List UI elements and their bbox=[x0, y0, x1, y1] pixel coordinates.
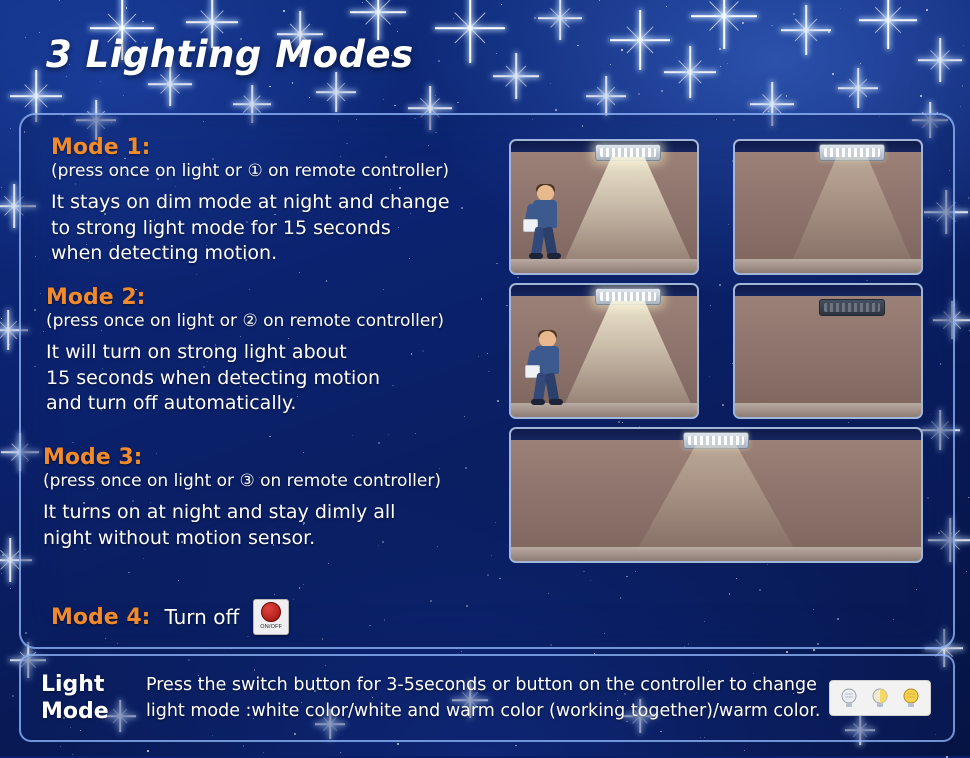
scene-mode2-off bbox=[733, 283, 923, 419]
mode-4-block: Mode 4: Turn off ON/OFF bbox=[51, 599, 289, 635]
person-head bbox=[537, 185, 554, 201]
page-title: 3 Lighting Modes bbox=[46, 33, 414, 76]
scene-mode1-dim bbox=[733, 139, 923, 275]
person-shoe-right bbox=[549, 399, 563, 405]
scene-mode3-dim bbox=[509, 427, 923, 563]
mode-1-subtitle: (press once on light or ① on remote cont… bbox=[51, 161, 450, 181]
mode-2-subtitle: (press once on light or ② on remote cont… bbox=[46, 311, 444, 331]
light-mode-description: Press the switch button for 3-5seconds o… bbox=[146, 672, 829, 725]
mode-4-heading: Mode 4: bbox=[51, 605, 150, 630]
mode-1-block: Mode 1: (press once on light or ① on rem… bbox=[51, 135, 450, 267]
lamp-grill bbox=[600, 292, 656, 301]
bulb-warm-icon bbox=[898, 685, 924, 711]
lamp-grill bbox=[824, 303, 880, 312]
power-button-dot bbox=[261, 602, 281, 622]
scene-mode1-motion bbox=[509, 139, 699, 275]
illustration-grid bbox=[507, 131, 937, 631]
mode-1-heading: Mode 1: bbox=[51, 135, 450, 160]
scene-ground bbox=[511, 547, 921, 561]
mode-3-heading: Mode 3: bbox=[43, 445, 441, 470]
bulb-color-icons bbox=[829, 680, 931, 716]
person-shoe-left bbox=[531, 399, 545, 405]
light-mode-footer: Light Mode Press the switch button for 3… bbox=[19, 654, 955, 742]
person-shoe-right bbox=[547, 253, 561, 259]
lamp-grill bbox=[824, 148, 880, 157]
scene-sky bbox=[735, 285, 921, 296]
lamp-grill bbox=[688, 436, 744, 445]
modes-panel: Mode 1: (press once on light or ① on rem… bbox=[19, 113, 955, 649]
scene-ground bbox=[735, 259, 921, 273]
mode-4-label: Turn off bbox=[164, 605, 239, 629]
power-button-icon: ON/OFF bbox=[253, 599, 289, 635]
scene-ground bbox=[735, 403, 921, 417]
bulb-mixed-icon bbox=[867, 685, 893, 711]
scene-ground bbox=[511, 403, 697, 417]
light-mode-line-2: light mode :white color/white and warm c… bbox=[146, 698, 829, 724]
mode-3-block: Mode 3: (press once on light or ③ on rem… bbox=[43, 445, 441, 551]
power-button-caption: ON/OFF bbox=[260, 624, 282, 630]
scene-ground bbox=[511, 259, 697, 273]
mode-3-subtitle: (press once on light or ③ on remote cont… bbox=[43, 471, 441, 491]
mode-3-body: It turns on at night and stay dimly all … bbox=[43, 500, 441, 551]
light-mode-line-1: Press the switch button for 3-5seconds o… bbox=[146, 672, 829, 698]
walking-person bbox=[527, 331, 569, 405]
bulb-white-icon bbox=[836, 685, 862, 711]
mode-2-block: Mode 2: (press once on light or ② on rem… bbox=[46, 285, 444, 417]
mode-1-body: It stays on dim mode at night and change… bbox=[51, 190, 450, 267]
person-head bbox=[539, 331, 556, 347]
person-shoe-left bbox=[529, 253, 543, 259]
scene-mode2-motion bbox=[509, 283, 699, 419]
light-mode-label: Light Mode bbox=[41, 671, 146, 726]
mode-2-body: It will turn on strong light about 15 se… bbox=[46, 340, 444, 417]
walking-person bbox=[525, 185, 567, 259]
mode-2-heading: Mode 2: bbox=[46, 285, 444, 310]
lamp-off-icon bbox=[819, 299, 885, 316]
lamp-grill bbox=[600, 148, 656, 157]
